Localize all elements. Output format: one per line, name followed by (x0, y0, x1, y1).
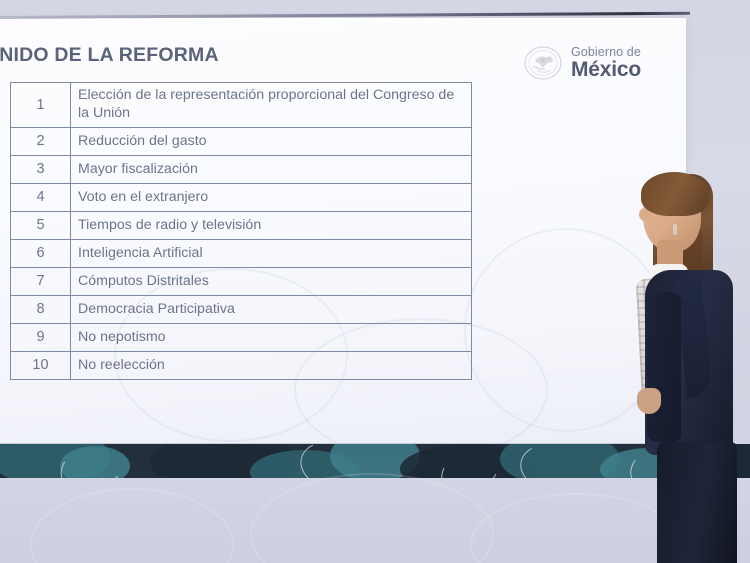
row-text: Cómputos Distritales (71, 268, 472, 296)
row-number: 2 (11, 128, 71, 156)
row-text: Tiempos de radio y televisión (71, 212, 472, 240)
screenshot-root: ENIDO DE LA REFORMA 1 Elección de la rep… (0, 0, 750, 563)
presenter-hand (637, 388, 661, 414)
row-number: 5 (11, 212, 71, 240)
row-number: 1 (11, 83, 71, 128)
row-number: 9 (11, 324, 71, 352)
table-row: 8 Democracia Participativa (11, 296, 472, 324)
row-text: No nepotismo (71, 324, 472, 352)
table-row: 10 No reelección (11, 352, 472, 380)
table-row: 6 Inteligencia Artificial (11, 240, 472, 268)
row-number: 8 (11, 296, 71, 324)
reform-contents-table: 1 Elección de la representación proporci… (10, 82, 472, 380)
presenter-earring (673, 224, 677, 235)
presenter-arm (647, 292, 681, 442)
row-text: Voto en el extranjero (71, 184, 472, 212)
row-number: 6 (11, 240, 71, 268)
row-number: 4 (11, 184, 71, 212)
row-text: Mayor fiscalización (71, 156, 472, 184)
logo-text: Gobierno de México (571, 46, 641, 81)
table-row: 5 Tiempos de radio y televisión (11, 212, 472, 240)
logo-line-gobierno: Gobierno de (571, 46, 641, 59)
table-row: 7 Cómputos Distritales (11, 268, 472, 296)
presenter-figure (595, 160, 750, 563)
table-row: 9 No nepotismo (11, 324, 472, 352)
mexican-eagle-emblem-icon (523, 44, 563, 82)
row-number: 7 (11, 268, 71, 296)
row-text: Inteligencia Artificial (71, 240, 472, 268)
table-body: 1 Elección de la representación proporci… (11, 83, 472, 380)
table-row: 2 Reducción del gasto (11, 128, 472, 156)
table-row: 3 Mayor fiscalización (11, 156, 472, 184)
table-row: 1 Elección de la representación proporci… (11, 83, 472, 128)
table-row: 4 Voto en el extranjero (11, 184, 472, 212)
row-text: Reducción del gasto (71, 128, 472, 156)
row-text: Elección de la representación proporcion… (71, 83, 472, 128)
slide-title: ENIDO DE LA REFORMA (0, 44, 219, 67)
row-number: 10 (11, 352, 71, 380)
row-text: No reelección (71, 352, 472, 380)
logo-line-mexico: México (571, 59, 641, 80)
presenter-hair-top (641, 172, 709, 216)
row-number: 3 (11, 156, 71, 184)
presenter-trousers (657, 442, 737, 563)
row-text: Democracia Participativa (71, 296, 472, 324)
gobierno-de-mexico-logo: Gobierno de México (523, 44, 641, 82)
